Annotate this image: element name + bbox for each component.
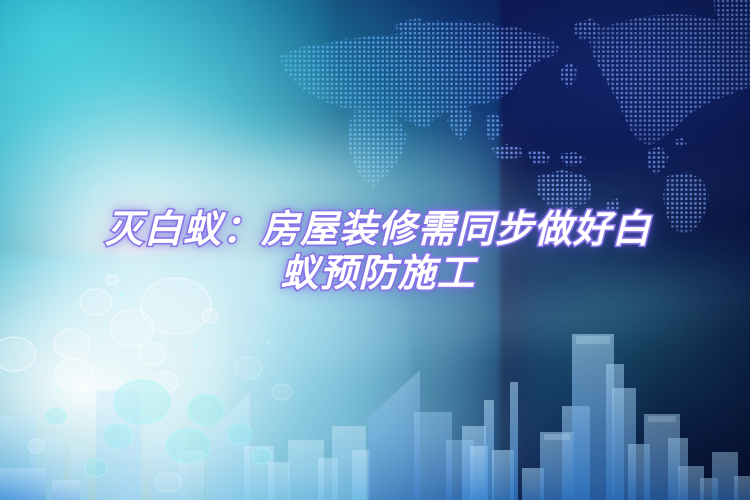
cover-title: 灭白蚁：房屋装修需同步做好白 蚁预防施工 xyxy=(0,208,750,296)
article-cover-banner: 灭白蚁：房屋装修需同步做好白 蚁预防施工 xyxy=(0,0,750,500)
title-line-2: 蚁预防施工 xyxy=(0,252,750,296)
title-line-1: 灭白蚁：房屋装修需同步做好白 xyxy=(0,208,750,252)
